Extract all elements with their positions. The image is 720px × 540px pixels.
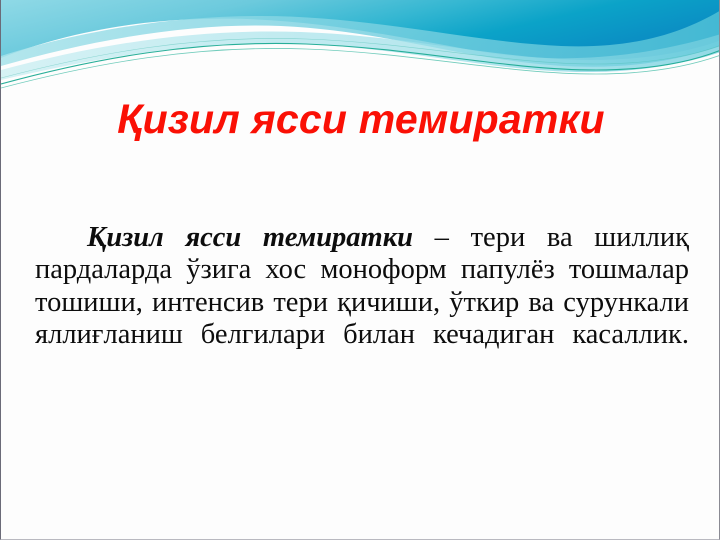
- page-title: Қизил ясси темиратки: [117, 94, 605, 144]
- slide-title-block: Қизил ясси темиратки: [1, 94, 720, 144]
- definition-term: Қизил ясси темиратки: [87, 222, 413, 253]
- slide-body-block: Қизил ясси темиратки – тери ва шиллиқ па…: [35, 222, 689, 384]
- presentation-slide: Қизил ясси темиратки Қизил ясси темиратк…: [0, 0, 720, 540]
- teal-wave-banner: [1, 0, 720, 96]
- wave-graphic: [1, 0, 720, 96]
- definition-paragraph: Қизил ясси темиратки – тери ва шиллиқ па…: [35, 222, 689, 384]
